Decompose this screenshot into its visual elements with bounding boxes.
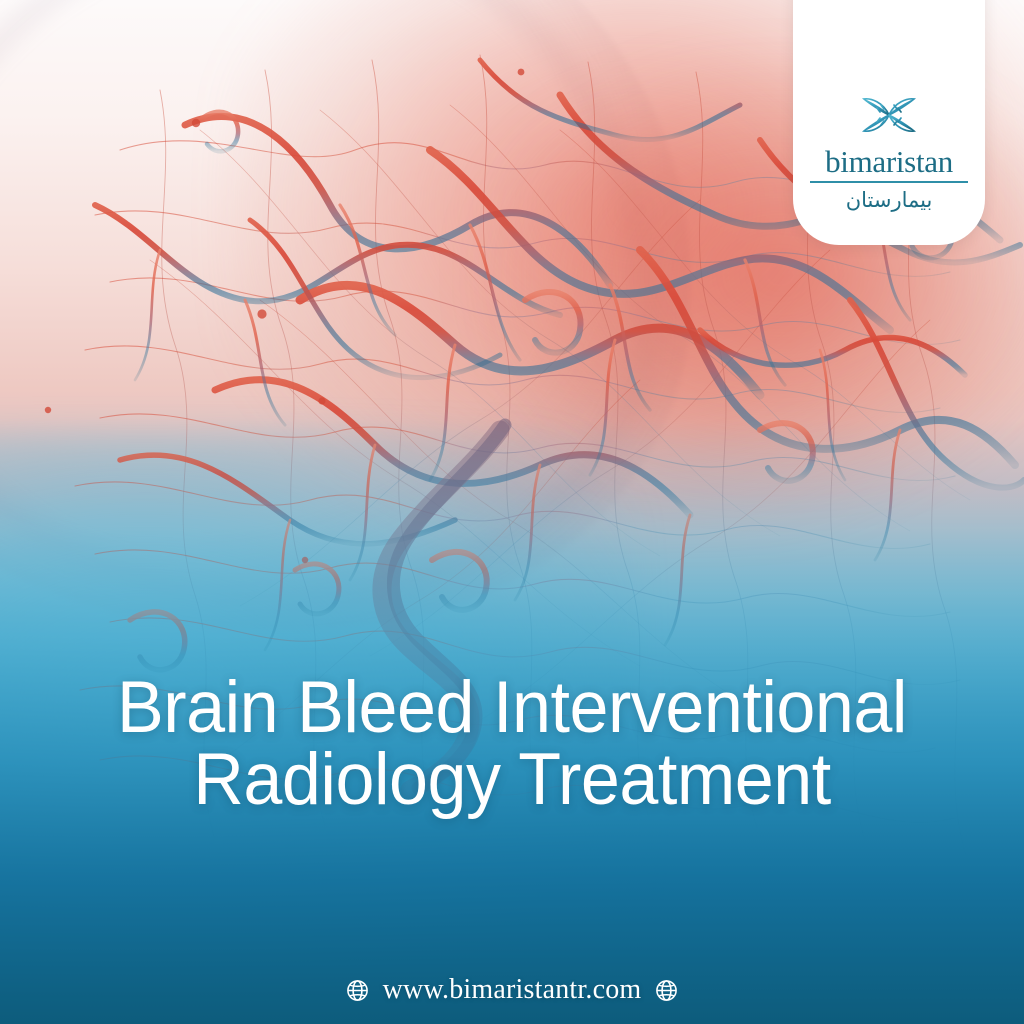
headline-line-1: Brain Bleed Interventional xyxy=(20,672,1003,744)
globe-icon xyxy=(345,978,370,1003)
butterfly-leaf-mark-icon xyxy=(853,93,925,137)
page-title: Brain Bleed Interventional Radiology Tre… xyxy=(0,672,1024,817)
poster-canvas: bimaristan بيمارستان Brain Bleed Interve… xyxy=(0,0,1024,1024)
footer-url-bar: www.bimaristantr.com xyxy=(0,974,1024,1006)
brand-logo-card[interactable]: bimaristan بيمارستان xyxy=(793,0,985,245)
brand-wordmark: bimaristan xyxy=(825,146,953,177)
website-url[interactable]: www.bimaristantr.com xyxy=(383,974,642,1006)
headline-line-2: Radiology Treatment xyxy=(20,744,1003,816)
globe-icon xyxy=(654,978,679,1003)
brand-wordmark-arabic: بيمارستان xyxy=(846,190,933,211)
brand-wordmark-underline xyxy=(810,181,968,184)
